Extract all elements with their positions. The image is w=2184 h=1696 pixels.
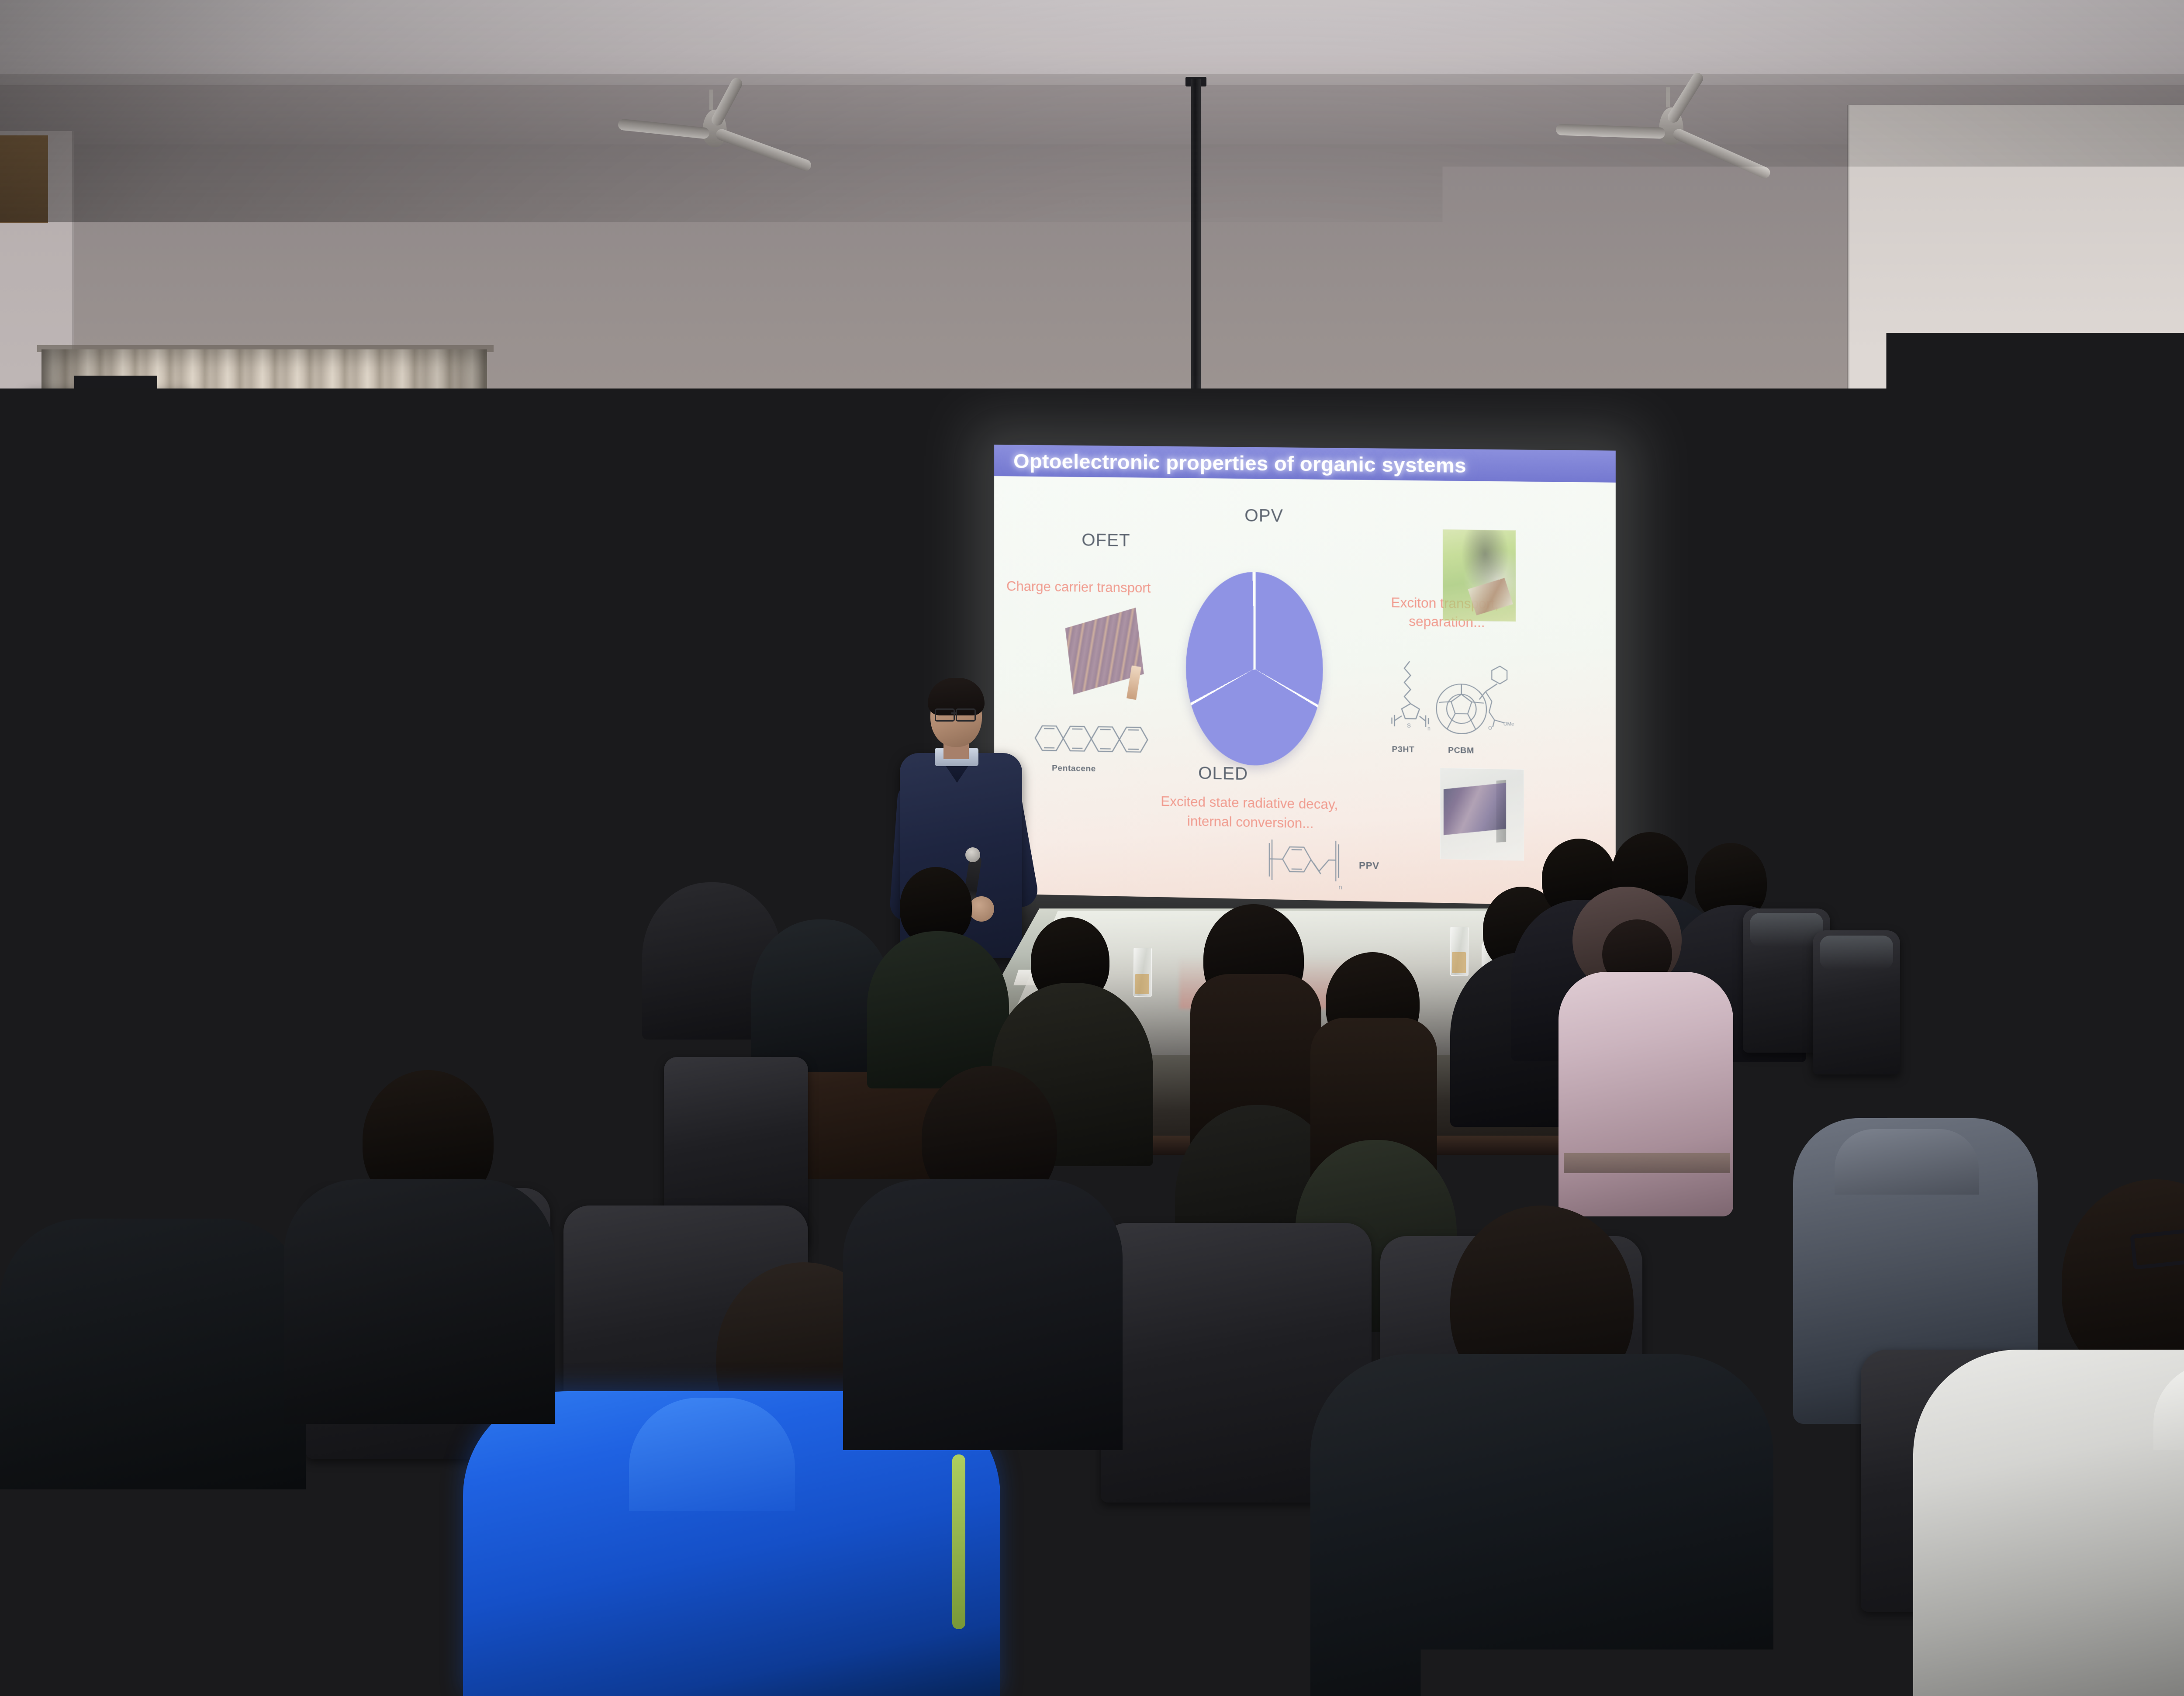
presenter-glasses-right-lens (956, 708, 976, 722)
pie-label-oled: OLED (1198, 763, 1248, 784)
air-conditioner-sticker (494, 668, 510, 697)
ac-indicator-led-3 (470, 761, 477, 766)
breaker-switch-4[interactable] (1897, 722, 1901, 729)
blue-jacket-hood (629, 1398, 795, 1511)
smartphone-screen (306, 946, 331, 962)
foreground-body-dark-jacket (1310, 1354, 1773, 1696)
slide-body: OFET OPV OLED Charge carrier transport E… (994, 476, 1616, 906)
svg-text:O: O (1488, 725, 1492, 731)
chair[interactable] (0, 957, 122, 1088)
door-panel-lower (2083, 704, 2146, 895)
light-switch-bank[interactable] (2140, 771, 2184, 805)
molecule-caption-p3ht: P3HT (1392, 745, 1414, 755)
ceiling-fan-left (699, 90, 713, 110)
pentacene-molecule-icon (1032, 717, 1150, 761)
audience-body (867, 931, 1009, 1088)
wall-corner-edge (1847, 105, 1849, 935)
chair-headrest-highlight (1750, 913, 1823, 947)
molecule-caption-pentacene: Pentacene (1052, 763, 1096, 774)
slide-title: Optoelectronic properties of organic sys… (1013, 449, 1466, 477)
pink-puffer-coat (1559, 972, 1733, 1216)
wall-speaker-left: NewKoda (26, 389, 194, 485)
lecture-room-photo: Optoelectronic properties of organic sys… (0, 0, 2184, 1696)
light-gray-jacket (1913, 1350, 2184, 1696)
microphone-indicator-led (767, 696, 772, 701)
podium-control-knob (803, 783, 819, 794)
jacket-reflective-stripe (952, 1454, 965, 1629)
presenter-glasses-left-lens (935, 708, 955, 722)
ac-indicator-led-2 (460, 761, 467, 766)
audience-body (0, 1219, 306, 1489)
svg-text:n: n (1338, 884, 1342, 891)
eyeglasses (2130, 1229, 2184, 1270)
wall-speaker-left-mount (74, 376, 157, 391)
smartphone-screen (128, 912, 155, 929)
audience-body (843, 1179, 1123, 1450)
pie-separator (1254, 572, 1256, 670)
pie-label-opv: OPV (1244, 506, 1283, 526)
audience-body (284, 1179, 555, 1424)
projection-screen: Optoelectronic properties of organic sys… (994, 445, 1616, 906)
molecule-caption-pcbm: PCBM (1448, 746, 1474, 756)
p3ht-molecule-icon: S n (1386, 656, 1435, 741)
breaker-switch-1[interactable] (1862, 722, 1866, 729)
breaker-panel-lip (1849, 702, 1950, 708)
conduit-pipe (1868, 768, 1875, 877)
presenter-glasses-bridge (951, 712, 957, 714)
podium-monitor (606, 681, 748, 772)
ceiling-fan-right (1655, 87, 1670, 107)
annotation-oled-line1: Excited state radiative decay, (1161, 793, 1409, 815)
door-panel-upper (2083, 519, 2146, 688)
projector-lens (1206, 424, 1217, 435)
projector-pole (1191, 79, 1201, 402)
smartphone[interactable] (437, 841, 477, 865)
presenter-hand-right (969, 896, 994, 922)
svg-text:OMe: OMe (1503, 722, 1514, 727)
ac-indicator-led-1 (449, 761, 456, 766)
chair-headrest-highlight (485, 1071, 616, 1119)
ceiling-projector (1129, 412, 1275, 446)
camera-lens (543, 922, 574, 953)
svg-text:S: S (1407, 722, 1411, 729)
coat-belt (1564, 1153, 1730, 1173)
chair-headrest-highlight (1820, 936, 1893, 970)
monitor-label-sticker (625, 730, 653, 745)
pie-label-ofet: OFET (1082, 530, 1130, 550)
pcbm-molecule-icon: O OMe (1429, 662, 1519, 745)
air-conditioner-logo (502, 748, 531, 755)
ppv-molecule-icon: n (1258, 833, 1360, 901)
oled-tv-screen (1444, 783, 1506, 835)
tea-in-glass-1 (1135, 974, 1149, 994)
fleece-collar (1835, 1129, 1979, 1195)
tea-in-glass-3 (1452, 952, 1466, 973)
breaker-switch-5[interactable] (1918, 722, 1922, 729)
breaker-switch-3[interactable] (1881, 722, 1885, 729)
ceiling-wood-notch (0, 135, 48, 223)
breaker-switch-2[interactable] (1871, 722, 1875, 729)
annotation-ofet: Charge carrier transport (1006, 577, 1191, 598)
door-transom-window (2079, 383, 2150, 493)
molecule-caption-ppv: PPV (1359, 860, 1379, 871)
foreground-head (996, 1494, 1162, 1668)
annotation-oled-line2: internal conversion... (1187, 812, 1418, 835)
